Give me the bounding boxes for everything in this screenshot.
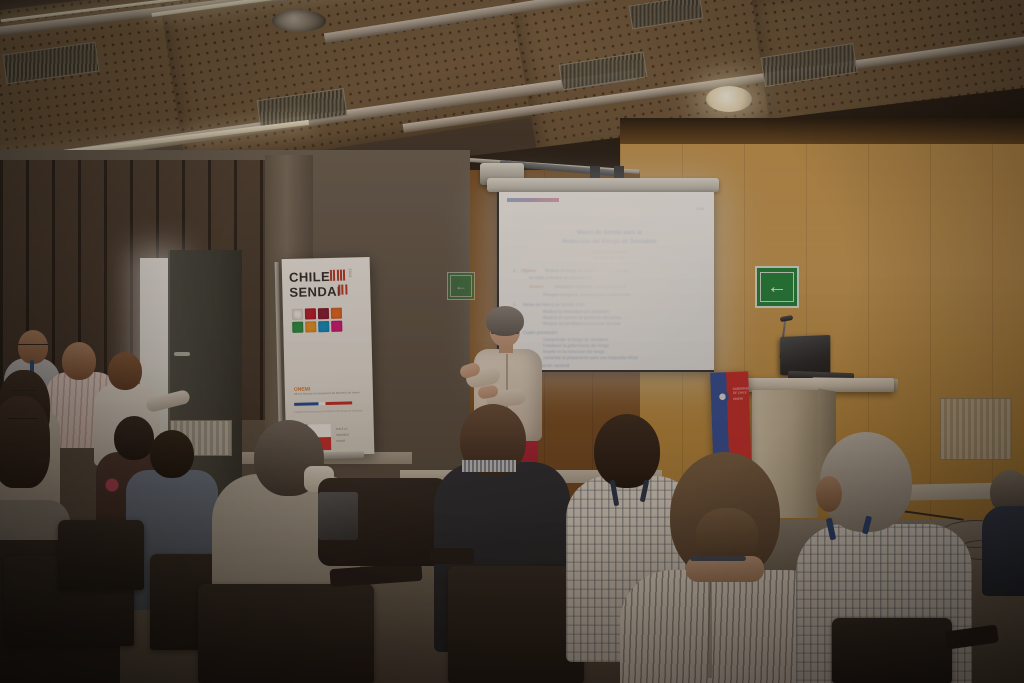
- lectern-banner-text-line1: GOBIERNO DE CHILE: [733, 387, 749, 395]
- lectern-banner-text-line2: ONEMI: [733, 398, 743, 402]
- attendee-hair: [0, 396, 50, 488]
- attendee-torso: [982, 506, 1024, 596]
- sdg-icon-5: [292, 322, 303, 333]
- necklace: [690, 556, 746, 561]
- attendee-head: [62, 342, 96, 380]
- banner-bars-icon: [330, 270, 345, 281]
- slide-bullet: Desastres naturales y antropogenicos: [555, 284, 625, 289]
- gov-text-line2: HACEMOS: [336, 434, 349, 438]
- sdg-icon-7: [318, 321, 329, 332]
- gov-text-line3: TODOS: [336, 440, 345, 443]
- sdg-icon-1: [292, 309, 303, 320]
- sdg-icon-grid: [292, 308, 343, 333]
- arrow-left-icon: ←: [767, 277, 787, 297]
- chair: [198, 584, 374, 683]
- banner-footer-note: Plataforma Nacional para la Reduccion de…: [294, 409, 362, 414]
- sdg-icon-4: [331, 308, 342, 319]
- slide-subtitle-line1: Plataforma Nacional: [515, 249, 704, 254]
- attendee-head: [114, 416, 154, 460]
- exit-sign-border: ←: [450, 275, 472, 296]
- conference-room-photo: 1/24 Marco de Sendai para la Reduccion d…: [0, 0, 1024, 683]
- banner-bars-icon: [338, 285, 347, 295]
- sdg-icon-8: [331, 321, 342, 332]
- banner-title-line1: CHILE: [289, 270, 330, 284]
- exit-sign-right: ←: [755, 266, 799, 308]
- downlight-icon: [706, 86, 752, 112]
- banner-year: 2016: [348, 268, 352, 277]
- door-handle[interactable]: [174, 352, 190, 356]
- exit-sign-border: ←: [760, 272, 793, 302]
- attendee-head: [594, 414, 660, 488]
- onemi-logo: ONEMI Oficina Nacional de Emergencia del…: [294, 385, 360, 396]
- gov-text-line1: CHILE LO: [336, 428, 348, 432]
- tablet-device: [318, 492, 358, 540]
- slide-accent-band: [507, 198, 559, 202]
- gov-crest-icon: [716, 390, 729, 403]
- slide-bullet: Objetivo: [521, 268, 536, 273]
- sdg-icon-3: [318, 308, 329, 319]
- chair: [58, 520, 144, 590]
- banner-title-line2: SENDAI: [289, 285, 341, 299]
- banner-rule: [294, 401, 352, 405]
- sdg-icon-2: [305, 308, 316, 319]
- slide-subtitle-line2: Santiago de Chile: [515, 255, 704, 260]
- sdg-icon-6: [305, 321, 316, 332]
- attendee-head: [150, 430, 194, 478]
- attendee-collar: [462, 460, 516, 472]
- slide-bullet: Reducir el numero de personas afectadas: [543, 315, 621, 320]
- onemi-sub: Oficina Nacional de Emergencia del Minis…: [294, 391, 360, 396]
- slide-title-line2: Reduccion del Riesgo de Desastres: [515, 239, 704, 245]
- chair: [832, 618, 952, 683]
- attendee-ear: [816, 476, 842, 512]
- ceiling-speaker-icon: [272, 10, 326, 32]
- exit-sign-left: ←: [447, 272, 475, 300]
- presenter-hair: [486, 306, 524, 336]
- slide-bullet: Reducir el riesgo de desastres y las per…: [545, 268, 629, 273]
- slide-bullet: Riesgos biologicos, tecnologicos y ambie…: [543, 292, 631, 297]
- screen-housing: [487, 178, 719, 192]
- chair: [448, 566, 584, 683]
- chair-armrest: [430, 548, 474, 564]
- slide-bullet: Reducir las perdidas economicas directas: [543, 321, 621, 326]
- arrow-left-icon: ←: [455, 280, 467, 292]
- wall-shadow-band: [620, 118, 1024, 144]
- attendee-head: [108, 352, 142, 390]
- slide-bullet: Comprender el riesgo de desastres: [543, 337, 608, 342]
- glasses-icon: [18, 344, 48, 350]
- slide-bullet: en vidas y medios de subsistencia: [529, 275, 593, 280]
- blouse-button-placket: [708, 572, 712, 678]
- slide-bullet: Aumentar la preparacion para una respues…: [543, 355, 638, 360]
- slide-bullet: Reducir la mortalidad por desastres: [543, 309, 609, 314]
- slide-bullet: Invertir en la reduccion del riesgo: [543, 349, 605, 354]
- glasses-icon: [8, 418, 38, 424]
- slide-bullet: Fortalecer la gobernanza del riesgo: [543, 343, 609, 348]
- slide-title-line1: Marco de Sendai para la: [515, 230, 704, 236]
- radiator-right: [940, 398, 1012, 460]
- slide-page-number: 1/24: [696, 206, 704, 211]
- slide-bullet-marker: 1.: [513, 268, 517, 273]
- slide-bullet: Alcance: [529, 284, 544, 289]
